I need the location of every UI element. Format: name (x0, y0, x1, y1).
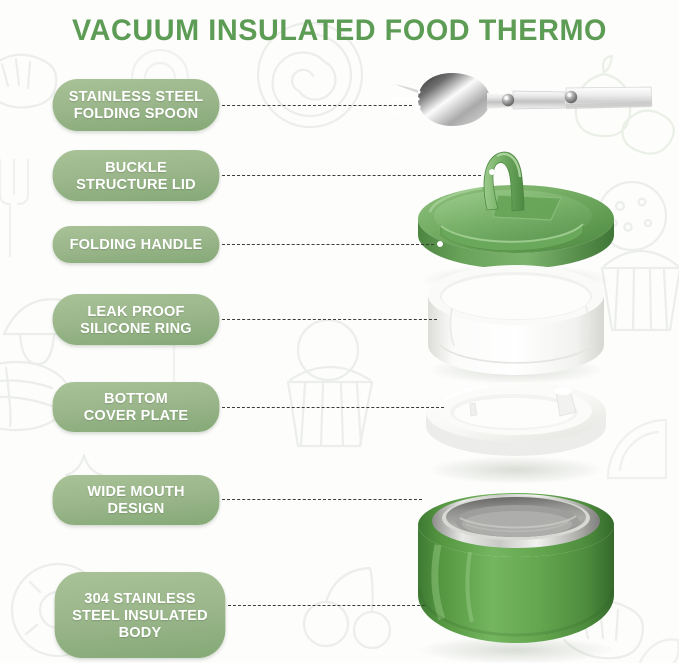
page-title: VACUUM INSULATED FOOD THERMO (14, 14, 666, 48)
leader-line-buckle-structure-lid (222, 175, 481, 176)
bottom-cover-plate-illustration (426, 382, 606, 484)
label-line: BODY (72, 624, 208, 641)
label-stainless-steel-folding-spoon[interactable]: STAINLESS STEEL FOLDING SPOON (53, 79, 220, 131)
silicone-ring-illustration (428, 265, 604, 384)
lid-assembly-illustration (418, 152, 614, 296)
leader-line-wide-mouth-design (222, 499, 422, 500)
label-line: BOTTOM (84, 390, 189, 407)
callout-dot-buckle-structure-lid (437, 241, 443, 247)
infographic-page: VACUUM INSULATED FOOD THERMO (0, 0, 679, 663)
label-304-stainless-steel-insulated-body[interactable]: 304 STAINLESS STEEL INSULATED BODY (55, 572, 226, 658)
label-wide-mouth-design[interactable]: WIDE MOUTH DESIGN (53, 475, 220, 525)
label-folding-handle[interactable]: FOLDING HANDLE (53, 226, 220, 263)
label-line: STAINLESS STEEL (69, 88, 203, 105)
folding-handle-illustration (484, 152, 524, 211)
label-line: FOLDING SPOON (69, 105, 203, 122)
label-line: BUCKLE (76, 159, 196, 176)
label-line: DESIGN (87, 500, 184, 517)
leader-line-stainless-steel-folding-spoon (222, 105, 412, 106)
label-line: LEAK PROOF (80, 303, 192, 320)
label-line: STRUCTURE LID (76, 176, 196, 193)
folding-spork-illustration (392, 73, 652, 126)
label-line: STEEL INSULATED (72, 607, 208, 624)
label-line: FOLDING HANDLE (70, 236, 203, 253)
label-line: 304 STAINLESS (72, 590, 208, 607)
leader-line-leak-proof-silicone-ring (222, 319, 437, 320)
label-leak-proof-silicone-ring[interactable]: LEAK PROOF SILICONE RING (53, 294, 220, 345)
leader-line-folding-handle (222, 244, 434, 245)
label-line: COVER PLATE (84, 407, 189, 424)
callout-dot-folding-handle (489, 169, 495, 175)
label-buckle-structure-lid[interactable]: BUCKLE STRUCTURE LID (53, 150, 220, 201)
leader-line-bottom-cover-plate (222, 407, 444, 408)
label-line: WIDE MOUTH (87, 483, 184, 500)
label-line: SILICONE RING (80, 320, 192, 337)
label-bottom-cover-plate[interactable]: BOTTOM COVER PLATE (53, 382, 220, 432)
insulated-body-illustration (418, 493, 614, 663)
leader-line-304-stainless-steel-insulated-body (228, 605, 425, 606)
